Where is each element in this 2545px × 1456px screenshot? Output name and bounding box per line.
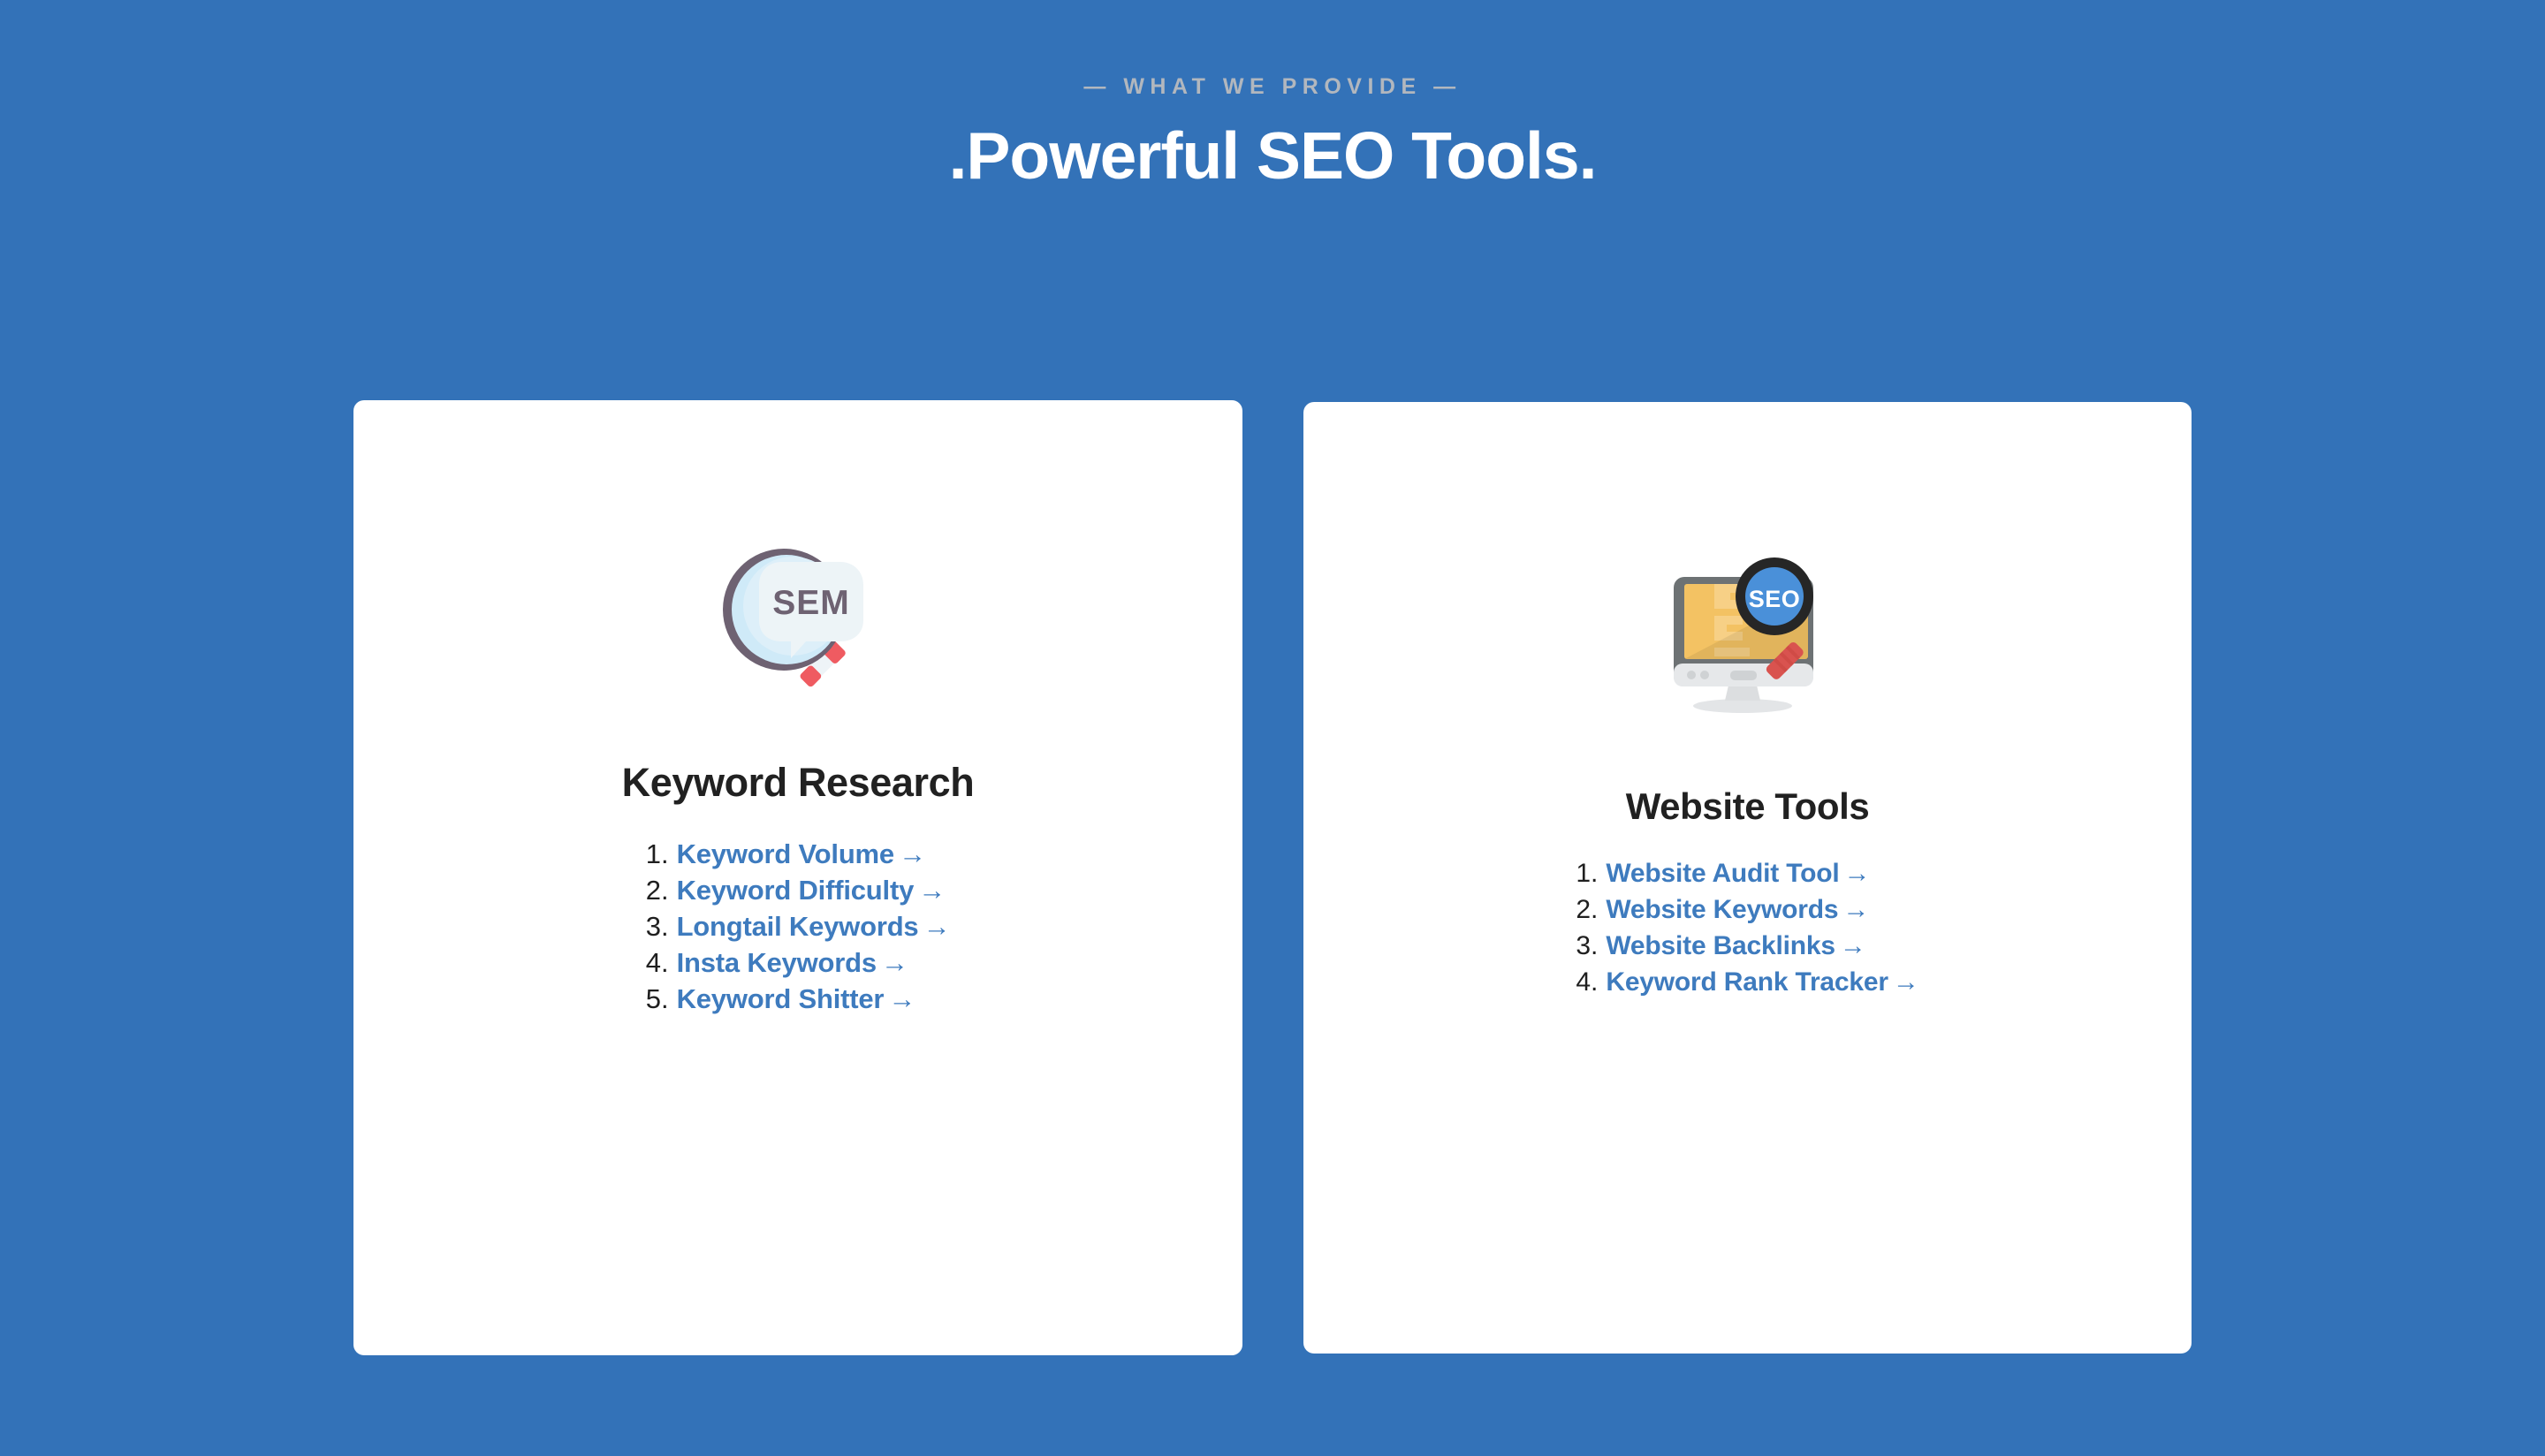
list-item[interactable]: 1. Website Audit Tool→ (1576, 861, 1918, 887)
arrow-right-icon: → (1893, 967, 1919, 997)
arrow-right-icon: → (923, 911, 950, 942)
link-website-audit-tool[interactable]: Website Audit Tool→ (1606, 861, 1870, 887)
list-item-number: 3. (1576, 933, 1598, 959)
arrow-right-icon: → (888, 983, 915, 1014)
list-item-number: 3. (646, 913, 669, 940)
arrow-right-icon: → (881, 947, 908, 978)
arrow-right-icon: → (1842, 895, 1869, 924)
link-label: Keyword Shitter (677, 983, 885, 1014)
list-item-number: 2. (1576, 897, 1598, 923)
link-keyword-difficulty[interactable]: Keyword Difficulty→ (677, 876, 946, 904)
arrow-right-icon: → (918, 875, 946, 906)
sem-magnifier-icon: SEM (717, 542, 879, 701)
section-eyebrow: — WHAT WE PROVIDE — (0, 76, 2545, 98)
list-item-number: 4. (646, 949, 669, 976)
list-item[interactable]: 2. Website Keywords→ (1576, 897, 1918, 923)
link-label: Longtail Keywords (677, 911, 919, 942)
link-keyword-shitter[interactable]: Keyword Shitter→ (677, 985, 916, 1012)
card-website-tools: SEO Website Tools 1. Website Audit Tool→… (1303, 402, 2192, 1354)
svg-text:SEM: SEM (772, 584, 850, 622)
arrow-right-icon: → (1844, 859, 1871, 888)
list-item-number: 5. (646, 985, 669, 1012)
link-label: Keyword Rank Tracker (1606, 967, 1888, 997)
list-item[interactable]: 5. Keyword Shitter→ (646, 985, 951, 1012)
seo-monitor-magnifier-icon: SEO (1661, 552, 1835, 716)
card-keyword-research: SEM Keyword Research 1. Keyword Volume→ … (353, 400, 1242, 1355)
link-insta-keywords[interactable]: Insta Keywords→ (677, 949, 908, 976)
link-label: Keyword Difficulty (677, 875, 915, 906)
arrow-right-icon: → (899, 838, 926, 869)
svg-text:SEO: SEO (1748, 586, 1800, 612)
card-title-website-tools: Website Tools (1626, 786, 1870, 827)
card-title-keyword-research: Keyword Research (622, 761, 975, 805)
link-label: Keyword Volume (677, 838, 894, 869)
link-label: Website Backlinks (1606, 931, 1835, 960)
tool-list-website-tools: 1. Website Audit Tool→ 2. Website Keywor… (1576, 861, 1918, 1005)
tool-list-keyword-research: 1. Keyword Volume→ 2. Keyword Difficulty… (646, 840, 951, 1021)
section-header: — WHAT WE PROVIDE — .Powerful SEO Tools. (0, 76, 2545, 191)
link-label: Insta Keywords (677, 947, 877, 978)
cards-container: SEM Keyword Research 1. Keyword Volume→ … (0, 400, 2545, 1363)
link-website-backlinks[interactable]: Website Backlinks→ (1606, 933, 1865, 959)
list-item[interactable]: 3. Longtail Keywords→ (646, 913, 951, 940)
page-title: .Powerful SEO Tools. (0, 121, 2545, 191)
list-item[interactable]: 1. Keyword Volume→ (646, 840, 951, 868)
arrow-right-icon: → (1840, 931, 1866, 960)
list-item-number: 4. (1576, 969, 1598, 996)
link-label: Website Audit Tool (1606, 859, 1839, 888)
list-item-number: 1. (1576, 861, 1598, 887)
link-longtail-keywords[interactable]: Longtail Keywords→ (677, 913, 951, 940)
list-item-number: 1. (646, 840, 669, 868)
link-website-keywords[interactable]: Website Keywords→ (1606, 897, 1869, 923)
list-item-number: 2. (646, 876, 669, 904)
list-item[interactable]: 4. Insta Keywords→ (646, 949, 951, 976)
list-item[interactable]: 3. Website Backlinks→ (1576, 933, 1918, 959)
list-item[interactable]: 4. Keyword Rank Tracker→ (1576, 969, 1918, 996)
link-label: Website Keywords (1606, 895, 1838, 924)
link-keyword-volume[interactable]: Keyword Volume→ (677, 840, 926, 868)
link-keyword-rank-tracker[interactable]: Keyword Rank Tracker→ (1606, 969, 1918, 996)
page-root: — WHAT WE PROVIDE — .Powerful SEO Tools. (0, 0, 2545, 1456)
list-item[interactable]: 2. Keyword Difficulty→ (646, 876, 951, 904)
